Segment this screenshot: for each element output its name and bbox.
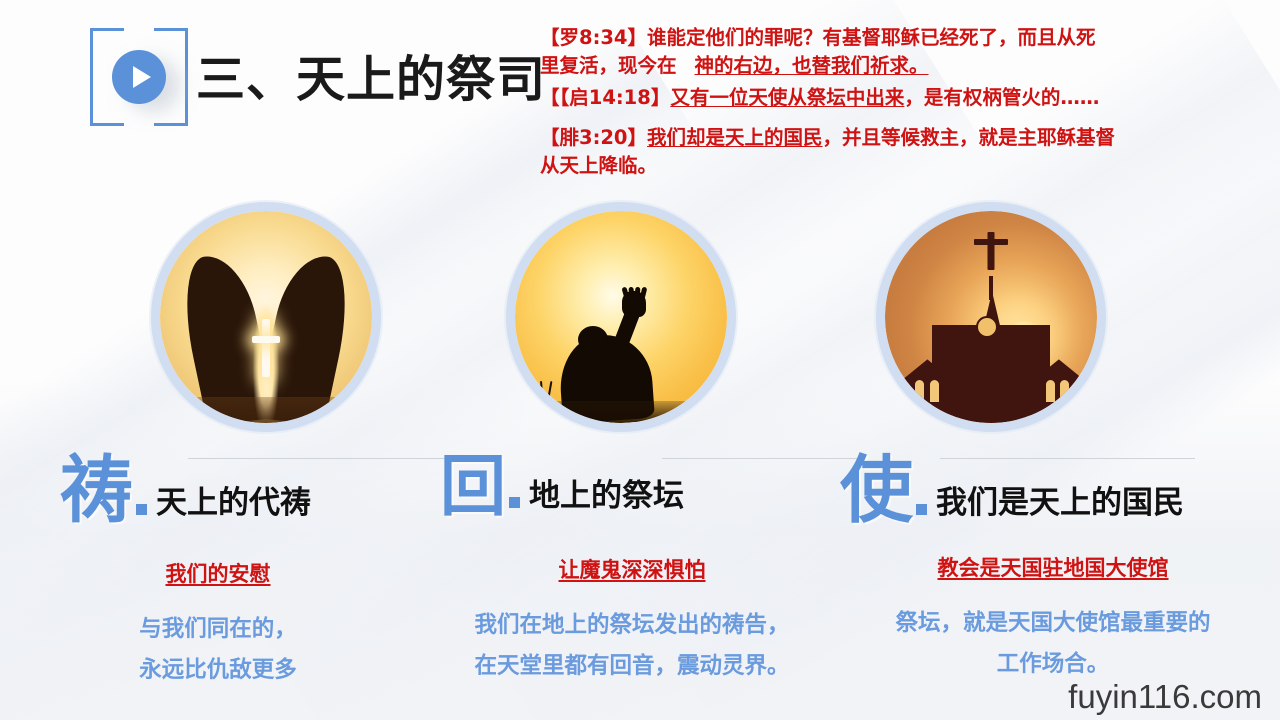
- column-heading-text: 我们是天上的国民: [936, 488, 1184, 519]
- column-red-title: 我们的安慰: [48, 562, 388, 587]
- scripture-text: 里复活，现今在: [540, 54, 677, 77]
- bullet-square-icon: [916, 504, 927, 515]
- column-body-line: 在天堂里都有回音，震动灵界。: [432, 646, 832, 687]
- scripture-line: 【【启14:18】又有一位天使从祭坛中出来，是有权柄管火的……: [540, 84, 1250, 112]
- heading-separator: [662, 458, 858, 459]
- scripture-text-underlined: 又有一位天使从祭坛中出来: [670, 86, 904, 109]
- scripture-verse-romans: 【罗8:34】谁能定他们的罪呢？有基督耶稣已经死了，而且从死 里复活，现今在神的…: [540, 24, 1250, 80]
- column-body-2: 让魔鬼深深惧怕 我们在地上的祭坛发出的祷告， 在天堂里都有回音，震动灵界。: [432, 558, 832, 687]
- scripture-text: ，是有权柄管火的……: [904, 86, 1099, 109]
- bullet-square-icon: [509, 497, 520, 508]
- column-body-line: 我们在地上的祭坛发出的祷告，: [432, 605, 832, 646]
- column-body-line: 祭坛，就是天国大使馆最重要的: [838, 603, 1268, 644]
- column-heading-text: 地上的祭坛: [529, 481, 684, 512]
- column-big-char: 使: [840, 454, 913, 527]
- column-big-char: 回: [440, 454, 506, 520]
- column-heading-text: 天上的代祷: [156, 488, 311, 519]
- scripture-reference: 【腓3:20】: [540, 126, 647, 149]
- slide-canvas: 三、天上的祭司 【罗8:34】谁能定他们的罪呢？有基督耶稣已经死了，而且从死 里…: [0, 0, 1280, 720]
- column-body-line: 永远比仇敌更多: [48, 650, 388, 691]
- play-circle-icon: [112, 50, 166, 104]
- bullet-square-icon: [136, 504, 147, 515]
- site-watermark: fuyin116.com: [1068, 678, 1262, 716]
- kneeling-worshipper-photo: [515, 211, 727, 423]
- page-title: 三、天上的祭司: [196, 40, 546, 111]
- scripture-line: 从天上降临。: [540, 152, 1250, 180]
- column-body-3: 教会是天国驻地国大使馆 祭坛，就是天国大使馆最重要的 工作场合。: [838, 556, 1268, 685]
- scripture-reference: 【【启14:18】: [540, 86, 670, 109]
- column-body-line: 与我们同在的，: [48, 609, 388, 650]
- play-button-icon: [90, 28, 188, 126]
- column-body-1: 我们的安慰 与我们同在的， 永远比仇敌更多: [48, 562, 388, 691]
- scripture-block: 【罗8:34】谁能定他们的罪呢？有基督耶稣已经死了，而且从死 里复活，现今在神的…: [540, 24, 1250, 184]
- column-red-title: 让魔鬼深深惧怕: [432, 558, 832, 583]
- scripture-line: 里复活，现今在神的右边，也替我们祈求。: [540, 52, 1250, 80]
- scripture-verse-philippians: 【腓3:20】我们却是天上的国民，并且等候救主，就是主耶稣基督 从天上降临。: [540, 124, 1250, 180]
- scripture-text: ，并且等候救主，就是主耶稣基督: [823, 126, 1116, 149]
- praying-hands-cross-photo: [160, 211, 372, 423]
- scripture-line: 【腓3:20】我们却是天上的国民，并且等候救主，就是主耶稣基督: [540, 124, 1250, 152]
- column-big-char: 祷: [60, 454, 133, 527]
- scripture-text-underlined: 神的右边，也替我们祈求。: [695, 54, 929, 77]
- scripture-line: 【罗8:34】谁能定他们的罪呢？有基督耶稣已经死了，而且从死: [540, 24, 1250, 52]
- scripture-verse-revelation: 【【启14:18】又有一位天使从祭坛中出来，是有权柄管火的……: [540, 84, 1250, 112]
- column-red-title: 教会是天国驻地国大使馆: [838, 556, 1268, 581]
- church-sunset-photo: [885, 211, 1097, 423]
- scripture-text-underlined: 我们却是天上的国民: [647, 126, 823, 149]
